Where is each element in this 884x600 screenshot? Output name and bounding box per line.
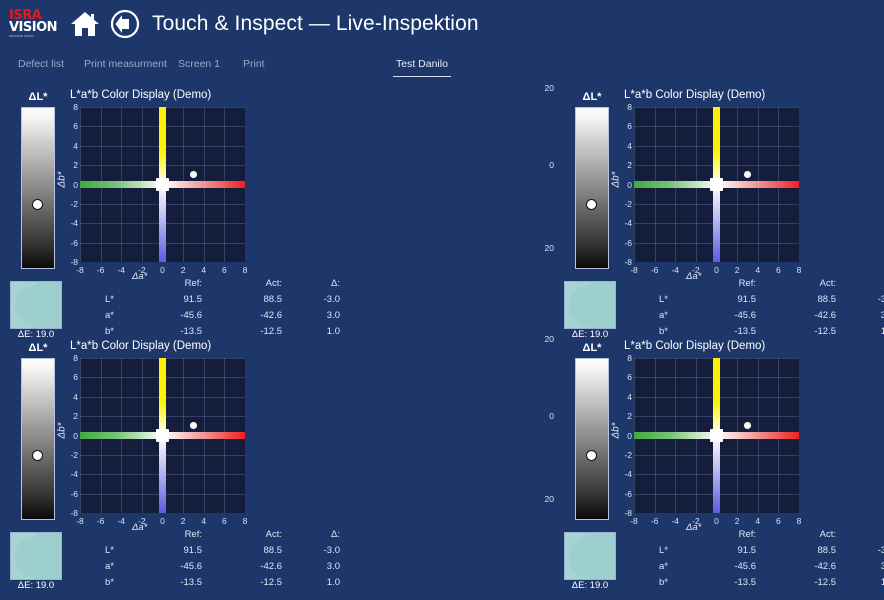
cell-delta: -3.0: [864, 294, 884, 305]
table-row: L*91.588.5-3.0: [68, 294, 332, 310]
x-axis-tick-label: 6: [770, 265, 786, 275]
delta-e-label: ΔE: 19.0: [556, 580, 624, 591]
data-point-marker: [743, 421, 752, 430]
y-axis-tick-label: 4: [62, 141, 78, 151]
axis-center-white: [156, 429, 169, 442]
column-header-delta: Δ:: [864, 278, 884, 289]
plot-title: L*a*b Color Display (Demo): [624, 340, 765, 352]
delta-l-gradient-bar: [21, 358, 55, 520]
table-row: b*-13.5-12.51.0: [68, 577, 332, 593]
y-axis-tick-label: 4: [616, 392, 632, 402]
table-row: a*-45.6-42.63.0: [622, 561, 884, 577]
y-axis-tick-label: 6: [62, 372, 78, 382]
lab-scatter-plot[interactable]: [634, 358, 799, 513]
color-swatch: [564, 532, 616, 580]
y-axis-tick-label: 6: [62, 121, 78, 131]
x-axis-tick-label: 8: [237, 265, 253, 275]
home-icon: [70, 10, 100, 38]
cell-reference: 91.5: [710, 294, 756, 305]
y-axis-tick-label: 0: [62, 180, 78, 190]
delta-l-marker: [32, 450, 43, 461]
panel-bottom-left: ΔL* 20 0 20 L*a*b Color Display (Demo) Δ…: [2, 339, 332, 589]
color-swatch: [564, 281, 616, 329]
cell-delta: 1.0: [864, 326, 884, 337]
cell-delta: -3.0: [310, 545, 340, 556]
y-axis-tick-label: -2: [616, 199, 632, 209]
cell-reference: -13.5: [710, 326, 756, 337]
axis-negative-b-gradient: [159, 436, 166, 514]
x-axis-tick-label: -4: [667, 265, 683, 275]
cell-parameter: a*: [622, 310, 668, 321]
y-axis-tick-label: -4: [616, 218, 632, 228]
x-axis-tick-label: -4: [667, 516, 683, 526]
table-header-row: Ref:Act:Δ:: [622, 529, 884, 545]
delta-e-label: ΔE: 19.0: [2, 580, 70, 591]
cell-actual: -42.6: [236, 561, 282, 572]
axis-center-white: [710, 429, 723, 442]
column-header-ref: Ref:: [156, 278, 202, 289]
cell-reference: -13.5: [710, 577, 756, 588]
x-axis-tick-label: 8: [791, 265, 807, 275]
y-axis-tick-label: 2: [616, 411, 632, 421]
axis-positive-b-gradient: [159, 107, 166, 185]
cell-actual: -12.5: [790, 326, 836, 337]
delta-l-tick-mid: 0: [539, 411, 554, 421]
swatch-circle-overlay: [15, 536, 57, 578]
cell-parameter: L*: [622, 545, 668, 556]
cell-parameter: b*: [622, 577, 668, 588]
column-header-ref: Ref:: [156, 529, 202, 540]
axis-negative-b-gradient: [713, 436, 720, 514]
cell-delta: 3.0: [864, 561, 884, 572]
axis-center-white: [156, 178, 169, 191]
delta-l-title: ΔL*: [566, 91, 618, 103]
cell-reference: 91.5: [156, 545, 202, 556]
delta-l-gauge: [21, 107, 55, 269]
x-axis-tick-label: 8: [791, 516, 807, 526]
color-swatch: [10, 281, 62, 329]
x-axis-tick-label: 2: [175, 265, 191, 275]
x-axis-tick-label: 4: [196, 516, 212, 526]
cell-delta: 1.0: [310, 577, 340, 588]
table-header-row: Ref:Act:Δ:: [622, 278, 884, 294]
y-axis-tick-label: -4: [616, 469, 632, 479]
tab-print-measurment[interactable]: Print measurment: [84, 58, 167, 77]
cell-parameter: a*: [622, 561, 668, 572]
x-axis-tick-label: -6: [647, 516, 663, 526]
cell-delta: 1.0: [310, 326, 340, 337]
column-header-ref: Ref:: [710, 529, 756, 540]
column-header-act: Act:: [790, 529, 836, 540]
x-axis-tick-label: -8: [72, 516, 88, 526]
tab-print[interactable]: Print: [243, 58, 265, 77]
logo-subtitle: MACHINE VISION: [9, 34, 34, 38]
table-row: L*91.588.5-3.0: [68, 545, 332, 561]
delta-l-gauge: [21, 358, 55, 520]
delta-l-gauge: [575, 107, 609, 269]
y-axis-tick-label: 0: [62, 431, 78, 441]
axis-positive-a-gradient: [163, 181, 246, 188]
column-header-act: Act:: [790, 278, 836, 289]
page-title: Touch & Inspect — Live-Inspektion: [152, 12, 479, 36]
table-row: b*-13.5-12.51.0: [622, 577, 884, 593]
axis-positive-a-gradient: [163, 432, 246, 439]
column-header-delta: Δ:: [310, 529, 340, 540]
cell-actual: 88.5: [790, 294, 836, 305]
isra-vision-logo: ISRA VISION MACHINE VISION: [9, 7, 55, 41]
x-axis-tick-label: 4: [750, 516, 766, 526]
cell-parameter: L*: [68, 545, 114, 556]
delta-l-title: ΔL*: [566, 342, 618, 354]
cell-actual: 88.5: [236, 545, 282, 556]
delta-l-tick-top: 20: [539, 83, 554, 93]
swatch-circle-overlay: [569, 536, 611, 578]
y-axis-tick-label: 6: [616, 372, 632, 382]
y-axis-tick-label: 0: [616, 431, 632, 441]
x-axis-tick-label: -6: [93, 265, 109, 275]
cell-actual: 88.5: [236, 294, 282, 305]
swatch-circle-overlay: [569, 285, 611, 327]
x-axis-tick-label: 0: [155, 265, 171, 275]
cell-actual: -12.5: [790, 577, 836, 588]
lab-scatter-plot[interactable]: [634, 107, 799, 262]
cell-parameter: a*: [68, 310, 114, 321]
column-header-act: Act:: [236, 529, 282, 540]
axis-negative-b-gradient: [713, 185, 720, 263]
back-button[interactable]: [108, 7, 142, 41]
x-axis-tick-label: -8: [626, 265, 642, 275]
y-axis-tick-label: -6: [62, 489, 78, 499]
cell-reference: -45.6: [156, 310, 202, 321]
x-axis-tick-label: -4: [113, 265, 129, 275]
logo-vision-text: VISION: [9, 22, 57, 34]
y-axis-tick-label: -4: [62, 218, 78, 228]
delta-l-tick-bottom: 20: [539, 243, 554, 253]
y-axis-tick-label: 2: [62, 160, 78, 170]
lab-scatter-plot[interactable]: [80, 107, 245, 262]
cell-parameter: L*: [68, 294, 114, 305]
axis-positive-b-gradient: [713, 107, 720, 185]
delta-l-title: ΔL*: [12, 91, 64, 103]
tab-bar: Defect list Print measurment Screen 1 Pr…: [0, 58, 884, 88]
cell-reference: 91.5: [710, 545, 756, 556]
cell-actual: -12.5: [236, 326, 282, 337]
delta-l-marker: [32, 199, 43, 210]
table-header-row: Ref:Act:Δ:: [68, 278, 332, 294]
cell-delta: -3.0: [864, 545, 884, 556]
table-row: L*91.588.5-3.0: [622, 545, 884, 561]
y-axis-tick-label: -6: [616, 489, 632, 499]
data-point-marker: [189, 170, 198, 179]
x-axis-tick-label: 6: [770, 516, 786, 526]
table-row: a*-45.6-42.63.0: [622, 310, 884, 326]
x-axis-tick-label: 0: [155, 516, 171, 526]
x-axis-tick-label: -8: [72, 265, 88, 275]
x-axis-tick-label: -2: [688, 516, 704, 526]
y-axis-tick-label: 4: [62, 392, 78, 402]
x-axis-tick-label: 6: [216, 265, 232, 275]
axis-positive-b-gradient: [713, 358, 720, 436]
y-axis-tick-label: 2: [616, 160, 632, 170]
cell-reference: -13.5: [156, 577, 202, 588]
cell-parameter: a*: [68, 561, 114, 572]
y-axis-tick-label: 4: [616, 141, 632, 151]
cell-reference: -13.5: [156, 326, 202, 337]
axis-negative-a-gradient: [80, 181, 163, 188]
data-point-marker: [743, 170, 752, 179]
back-arrow-icon: [110, 9, 140, 39]
delta-l-marker: [586, 450, 597, 461]
delta-l-title: ΔL*: [12, 342, 64, 354]
column-header-delta: Δ:: [310, 278, 340, 289]
tab-defect-list[interactable]: Defect list: [18, 58, 64, 77]
y-axis-tick-label: -2: [62, 450, 78, 460]
column-header-ref: Ref:: [710, 278, 756, 289]
y-axis-tick-label: 2: [62, 411, 78, 421]
cell-parameter: b*: [68, 326, 114, 337]
y-axis-tick-label: -6: [616, 238, 632, 248]
y-axis-tick-label: -2: [62, 199, 78, 209]
color-swatch: [10, 532, 62, 580]
column-header-delta: Δ:: [864, 529, 884, 540]
axis-negative-a-gradient: [634, 181, 717, 188]
axis-positive-b-gradient: [159, 358, 166, 436]
y-axis-tick-label: 8: [616, 353, 632, 363]
delta-l-tick-bottom: 20: [539, 494, 554, 504]
cell-delta: 3.0: [310, 310, 340, 321]
cell-parameter: b*: [68, 577, 114, 588]
cell-parameter: L*: [622, 294, 668, 305]
axis-center-white: [710, 178, 723, 191]
cell-actual: -12.5: [236, 577, 282, 588]
x-axis-tick-label: 4: [196, 265, 212, 275]
x-axis-tick-label: -2: [134, 516, 150, 526]
plot-title: L*a*b Color Display (Demo): [70, 89, 211, 101]
table-header-row: Ref:Act:Δ:: [68, 529, 332, 545]
cell-delta: 1.0: [864, 577, 884, 588]
panel-top-left: ΔL* 20 0 20 L*a*b Color Display (Demo) Δ…: [2, 88, 332, 338]
delta-l-tick-mid: 0: [539, 160, 554, 170]
lab-scatter-plot[interactable]: [80, 358, 245, 513]
x-axis-tick-label: -4: [113, 516, 129, 526]
axis-negative-b-gradient: [159, 185, 166, 263]
x-axis-tick-label: -6: [647, 265, 663, 275]
cell-delta: 3.0: [864, 310, 884, 321]
cell-reference: -45.6: [710, 310, 756, 321]
cell-parameter: b*: [622, 326, 668, 337]
x-axis-tick-label: 2: [175, 516, 191, 526]
plot-title: L*a*b Color Display (Demo): [70, 340, 211, 352]
cell-reference: -45.6: [156, 561, 202, 572]
y-axis-tick-label: 8: [62, 353, 78, 363]
x-axis-tick-label: 0: [709, 516, 725, 526]
y-axis-tick-label: 0: [616, 180, 632, 190]
x-axis-tick-label: -2: [134, 265, 150, 275]
y-axis-tick-label: -2: [616, 450, 632, 460]
tab-screen-1[interactable]: Screen 1: [178, 58, 220, 77]
x-axis-tick-label: -6: [93, 516, 109, 526]
delta-l-gauge: [575, 358, 609, 520]
y-axis-tick-label: 8: [62, 102, 78, 112]
cell-reference: -45.6: [710, 561, 756, 572]
axis-negative-a-gradient: [634, 432, 717, 439]
cell-actual: -42.6: [236, 310, 282, 321]
x-axis-tick-label: -2: [688, 265, 704, 275]
home-button[interactable]: [68, 7, 102, 41]
y-axis-tick-label: -6: [62, 238, 78, 248]
app-root: ISRA VISION MACHINE VISION Touch & Inspe…: [0, 0, 884, 600]
cell-actual: -42.6: [790, 561, 836, 572]
table-row: L*91.588.5-3.0: [622, 294, 884, 310]
swatch-circle-overlay: [15, 285, 57, 327]
cell-delta: 3.0: [310, 561, 340, 572]
axis-negative-a-gradient: [80, 432, 163, 439]
table-row: a*-45.6-42.63.0: [68, 310, 332, 326]
y-axis-tick-label: 6: [616, 121, 632, 131]
cell-actual: -42.6: [790, 310, 836, 321]
x-axis-tick-label: 2: [729, 516, 745, 526]
delta-l-gradient-bar: [21, 107, 55, 269]
delta-l-gradient-bar: [575, 358, 609, 520]
x-axis-tick-label: 6: [216, 516, 232, 526]
delta-l-marker: [586, 199, 597, 210]
panel-bottom-right: ΔL* 20 0 20 L*a*b Color Display (Demo) Δ…: [556, 339, 884, 589]
cell-delta: -3.0: [310, 294, 340, 305]
delta-l-gradient-bar: [575, 107, 609, 269]
table-row: a*-45.6-42.63.0: [68, 561, 332, 577]
tab-test-danilo[interactable]: Test Danilo: [396, 58, 448, 77]
panel-top-right: ΔL* 20 0 20 L*a*b Color Display (Demo) Δ…: [556, 88, 884, 338]
y-axis-tick-label: -4: [62, 469, 78, 479]
cell-actual: 88.5: [790, 545, 836, 556]
y-axis-tick-label: 8: [616, 102, 632, 112]
cell-reference: 91.5: [156, 294, 202, 305]
axis-positive-a-gradient: [717, 181, 800, 188]
app-header: ISRA VISION MACHINE VISION Touch & Inspe…: [0, 0, 884, 48]
x-axis-tick-label: 4: [750, 265, 766, 275]
axis-positive-a-gradient: [717, 432, 800, 439]
x-axis-tick-label: 0: [709, 265, 725, 275]
plot-title: L*a*b Color Display (Demo): [624, 89, 765, 101]
x-axis-tick-label: 8: [237, 516, 253, 526]
x-axis-tick-label: 2: [729, 265, 745, 275]
column-header-act: Act:: [236, 278, 282, 289]
delta-l-tick-top: 20: [539, 334, 554, 344]
x-axis-tick-label: -8: [626, 516, 642, 526]
data-point-marker: [189, 421, 198, 430]
